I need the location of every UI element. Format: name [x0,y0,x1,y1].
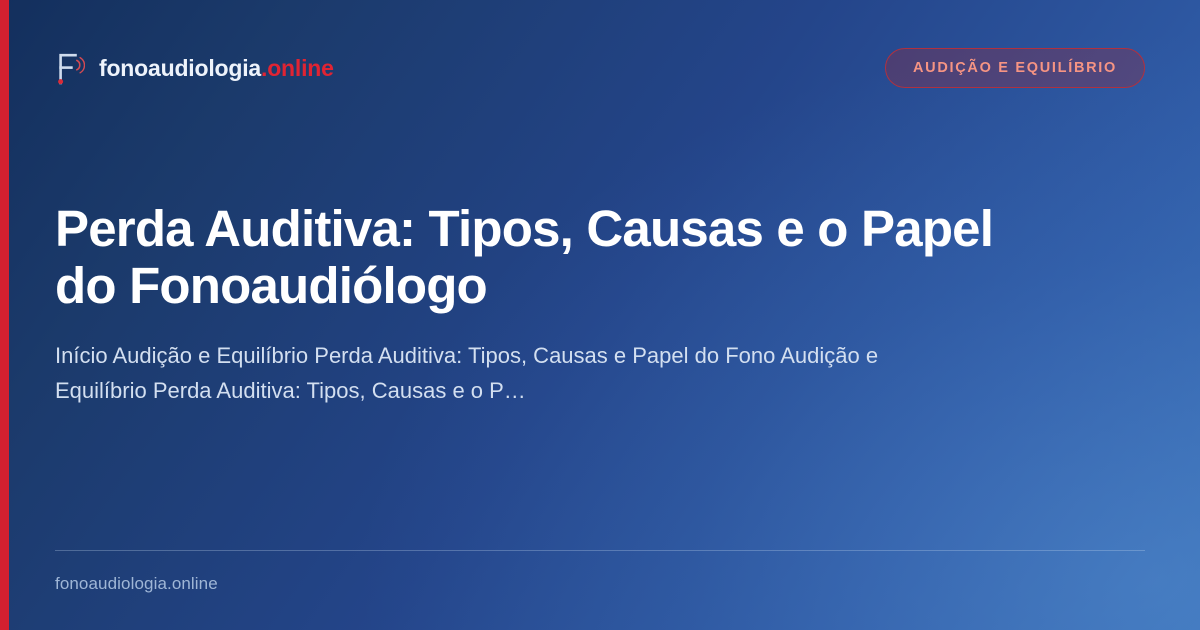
footer-domain: fonoaudiologia.online [55,574,1145,594]
card-header: fonoaudiologia.online AUDIÇÃO E EQUILÍBR… [55,44,1145,92]
page-title: Perda Auditiva: Tipos, Causas e o Papel … [55,200,1015,314]
brand-wordmark: fonoaudiologia.online [99,57,334,80]
footer-divider [55,550,1145,551]
card-footer: fonoaudiologia.online [55,550,1145,594]
brand-tld: .online [261,55,334,81]
brand-logo[interactable]: fonoaudiologia.online [55,51,334,85]
brand-name: fonoaudiologia [99,55,261,81]
card-content: fonoaudiologia.online AUDIÇÃO E EQUILÍBR… [0,0,1200,630]
card-main: Perda Auditiva: Tipos, Causas e o Papel … [55,200,1145,409]
page-description: Início Audição e Equilíbrio Perda Auditi… [55,338,885,408]
category-badge[interactable]: AUDIÇÃO E EQUILÍBRIO [885,48,1145,88]
f-soundwave-logo-icon [55,51,85,85]
og-share-card: fonoaudiologia.online AUDIÇÃO E EQUILÍBR… [0,0,1200,630]
